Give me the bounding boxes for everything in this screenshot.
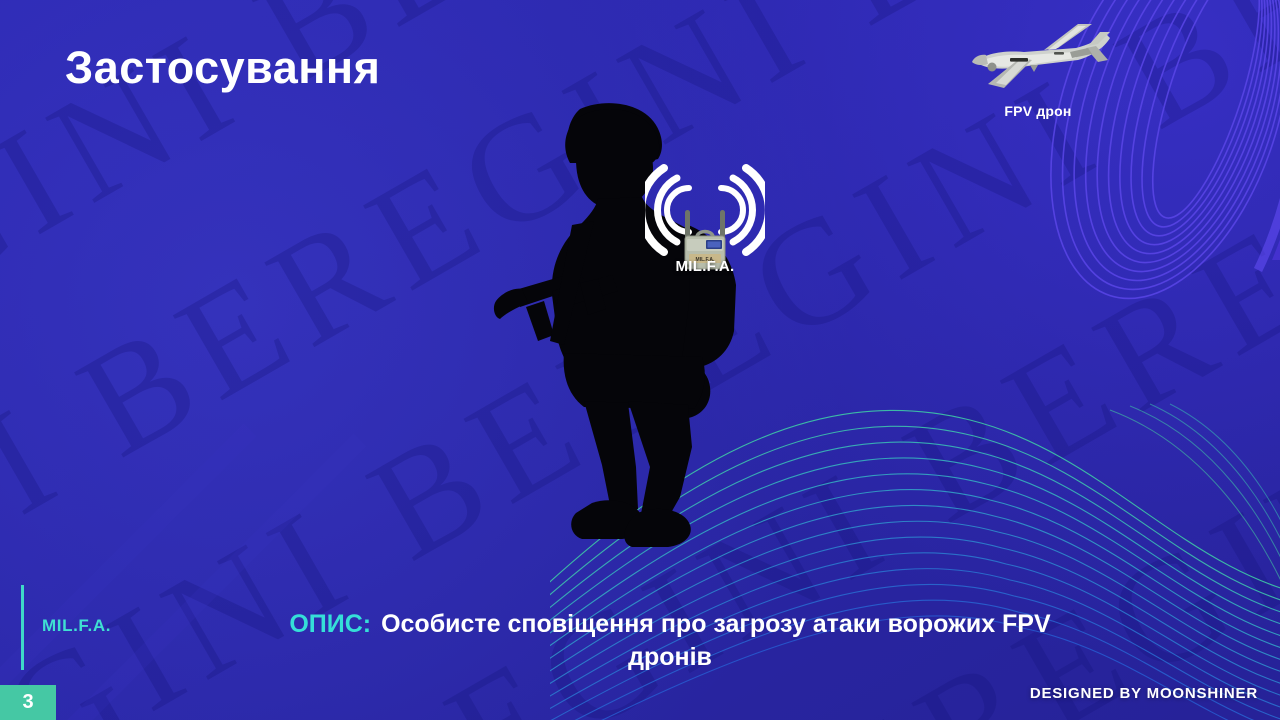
decoration-diagonals-bottom-left xyxy=(0,420,520,720)
slide-root: BEREGINI BEREGINI BEREGINI BEREGINI BERE… xyxy=(0,0,1280,720)
brand-accent-rule xyxy=(21,585,24,670)
page-title: Застосування xyxy=(65,42,380,94)
fpv-drone-figure xyxy=(958,18,1118,98)
radio-wave-arcs-left xyxy=(645,168,689,252)
description-value: Особисте сповіщення про загрозу атаки во… xyxy=(381,610,1051,671)
fpv-drone-caption: FPV дрон xyxy=(958,103,1118,119)
radio-wave-arcs-right xyxy=(721,168,765,252)
page-number-badge: 3 xyxy=(0,685,56,720)
designer-credit: DESIGNED BY MOONSHINER xyxy=(1030,685,1258,702)
description-label: ОПИС: xyxy=(289,610,371,638)
page-number-value: 3 xyxy=(22,691,33,714)
description-caption: ОПИС:Особисте сповіщення про загрозу ата… xyxy=(255,608,1085,674)
brand-name: MIL.F.A. xyxy=(42,616,111,636)
milfa-device-caption: MIL.F.A. xyxy=(620,258,790,275)
